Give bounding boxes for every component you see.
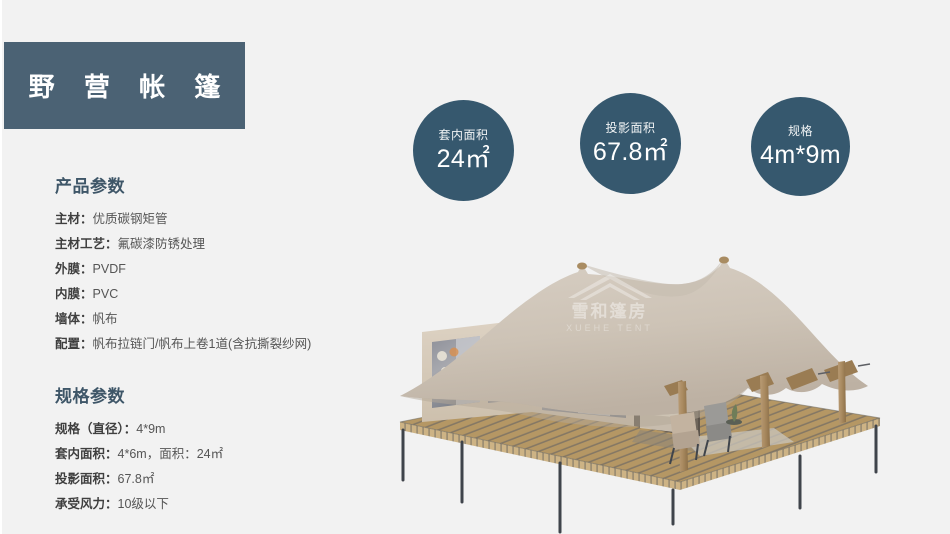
stat-badge-dimensions: 规格 4m*9m [751, 97, 850, 196]
spec-row: 主材：优质碳钢矩管 [55, 207, 385, 232]
spec-row: 配置：帆布拉链门/帆布上卷1道(含抗撕裂纱网) [55, 332, 385, 357]
page-title: 野 营 帐 篷 [18, 67, 232, 104]
spec-label: 规格（直径）： [55, 422, 136, 436]
spec-value: 优质碳钢矩管 [93, 212, 168, 226]
page-root: 野 营 帐 篷 产品参数 主材：优质碳钢矩管 主材工艺：氟碳漆防锈处理 外膜：P… [0, 0, 950, 534]
spec-label: 内膜： [55, 287, 93, 301]
spec-label: 主材： [55, 212, 93, 226]
spec-row: 套内面积：4*6m，面积：24㎡ [55, 442, 385, 467]
spec-value: 氟碳漆防锈处理 [118, 237, 206, 251]
size-params-heading: 规格参数 [55, 382, 385, 407]
stat-number: 67.8 [593, 138, 643, 166]
stat-value: 24㎡ [437, 145, 491, 173]
spec-value: 帆布 [93, 312, 118, 326]
spec-row: 投影面积：67.8㎡ [55, 467, 385, 492]
product-params-heading: 产品参数 [55, 172, 385, 197]
spec-row: 规格（直径）：4*9m [55, 417, 385, 442]
spec-value: 10级以下 [118, 497, 169, 511]
stat-badge-interior-area: 套内面积 24㎡ [413, 100, 514, 201]
tent-product-image [382, 190, 950, 534]
spec-row: 外膜：PVDF [55, 257, 385, 282]
size-params-section: 规格参数 规格（直径）：4*9m 套内面积：4*6m，面积：24㎡ 投影面积：6… [55, 382, 385, 517]
spec-label: 投影面积： [55, 472, 118, 486]
spec-value: 帆布拉链门/帆布上卷1道(含抗撕裂纱网) [93, 337, 312, 351]
stat-unit: ㎡ [465, 145, 490, 173]
stat-label: 套内面积 [438, 128, 488, 143]
title-banner: 野 营 帐 篷 [4, 42, 245, 129]
spec-label: 套内面积： [55, 447, 118, 461]
product-params-section: 产品参数 主材：优质碳钢矩管 主材工艺：氟碳漆防锈处理 外膜：PVDF 内膜：P… [55, 172, 385, 357]
spec-row: 内膜：PVC [55, 282, 385, 307]
spec-label: 墙体： [55, 312, 93, 326]
spec-row: 承受风力：10级以下 [55, 492, 385, 517]
spec-label: 主材工艺： [55, 237, 118, 251]
stat-label: 投影面积 [605, 121, 655, 136]
spec-value: 4*9m [136, 422, 165, 436]
spec-row: 主材工艺：氟碳漆防锈处理 [55, 232, 385, 257]
spec-row: 墙体：帆布 [55, 307, 385, 332]
spec-value: PVC [93, 287, 119, 301]
spec-value: PVDF [93, 262, 126, 276]
spec-label: 外膜： [55, 262, 93, 276]
spec-label: 承受风力： [55, 497, 118, 511]
stat-number: 24 [437, 145, 465, 173]
stat-value: 67.8㎡ [593, 138, 668, 166]
stat-badge-projected-area: 投影面积 67.8㎡ [580, 93, 681, 194]
spec-value: 67.8㎡ [118, 472, 155, 486]
spec-value: 4*6m，面积：24㎡ [118, 447, 224, 461]
stat-unit: ㎡ [643, 138, 668, 166]
spec-label: 配置： [55, 337, 93, 351]
stat-number: 4m*9m [760, 141, 841, 169]
stat-value: 4m*9m [760, 141, 841, 169]
stat-label: 规格 [788, 124, 813, 139]
